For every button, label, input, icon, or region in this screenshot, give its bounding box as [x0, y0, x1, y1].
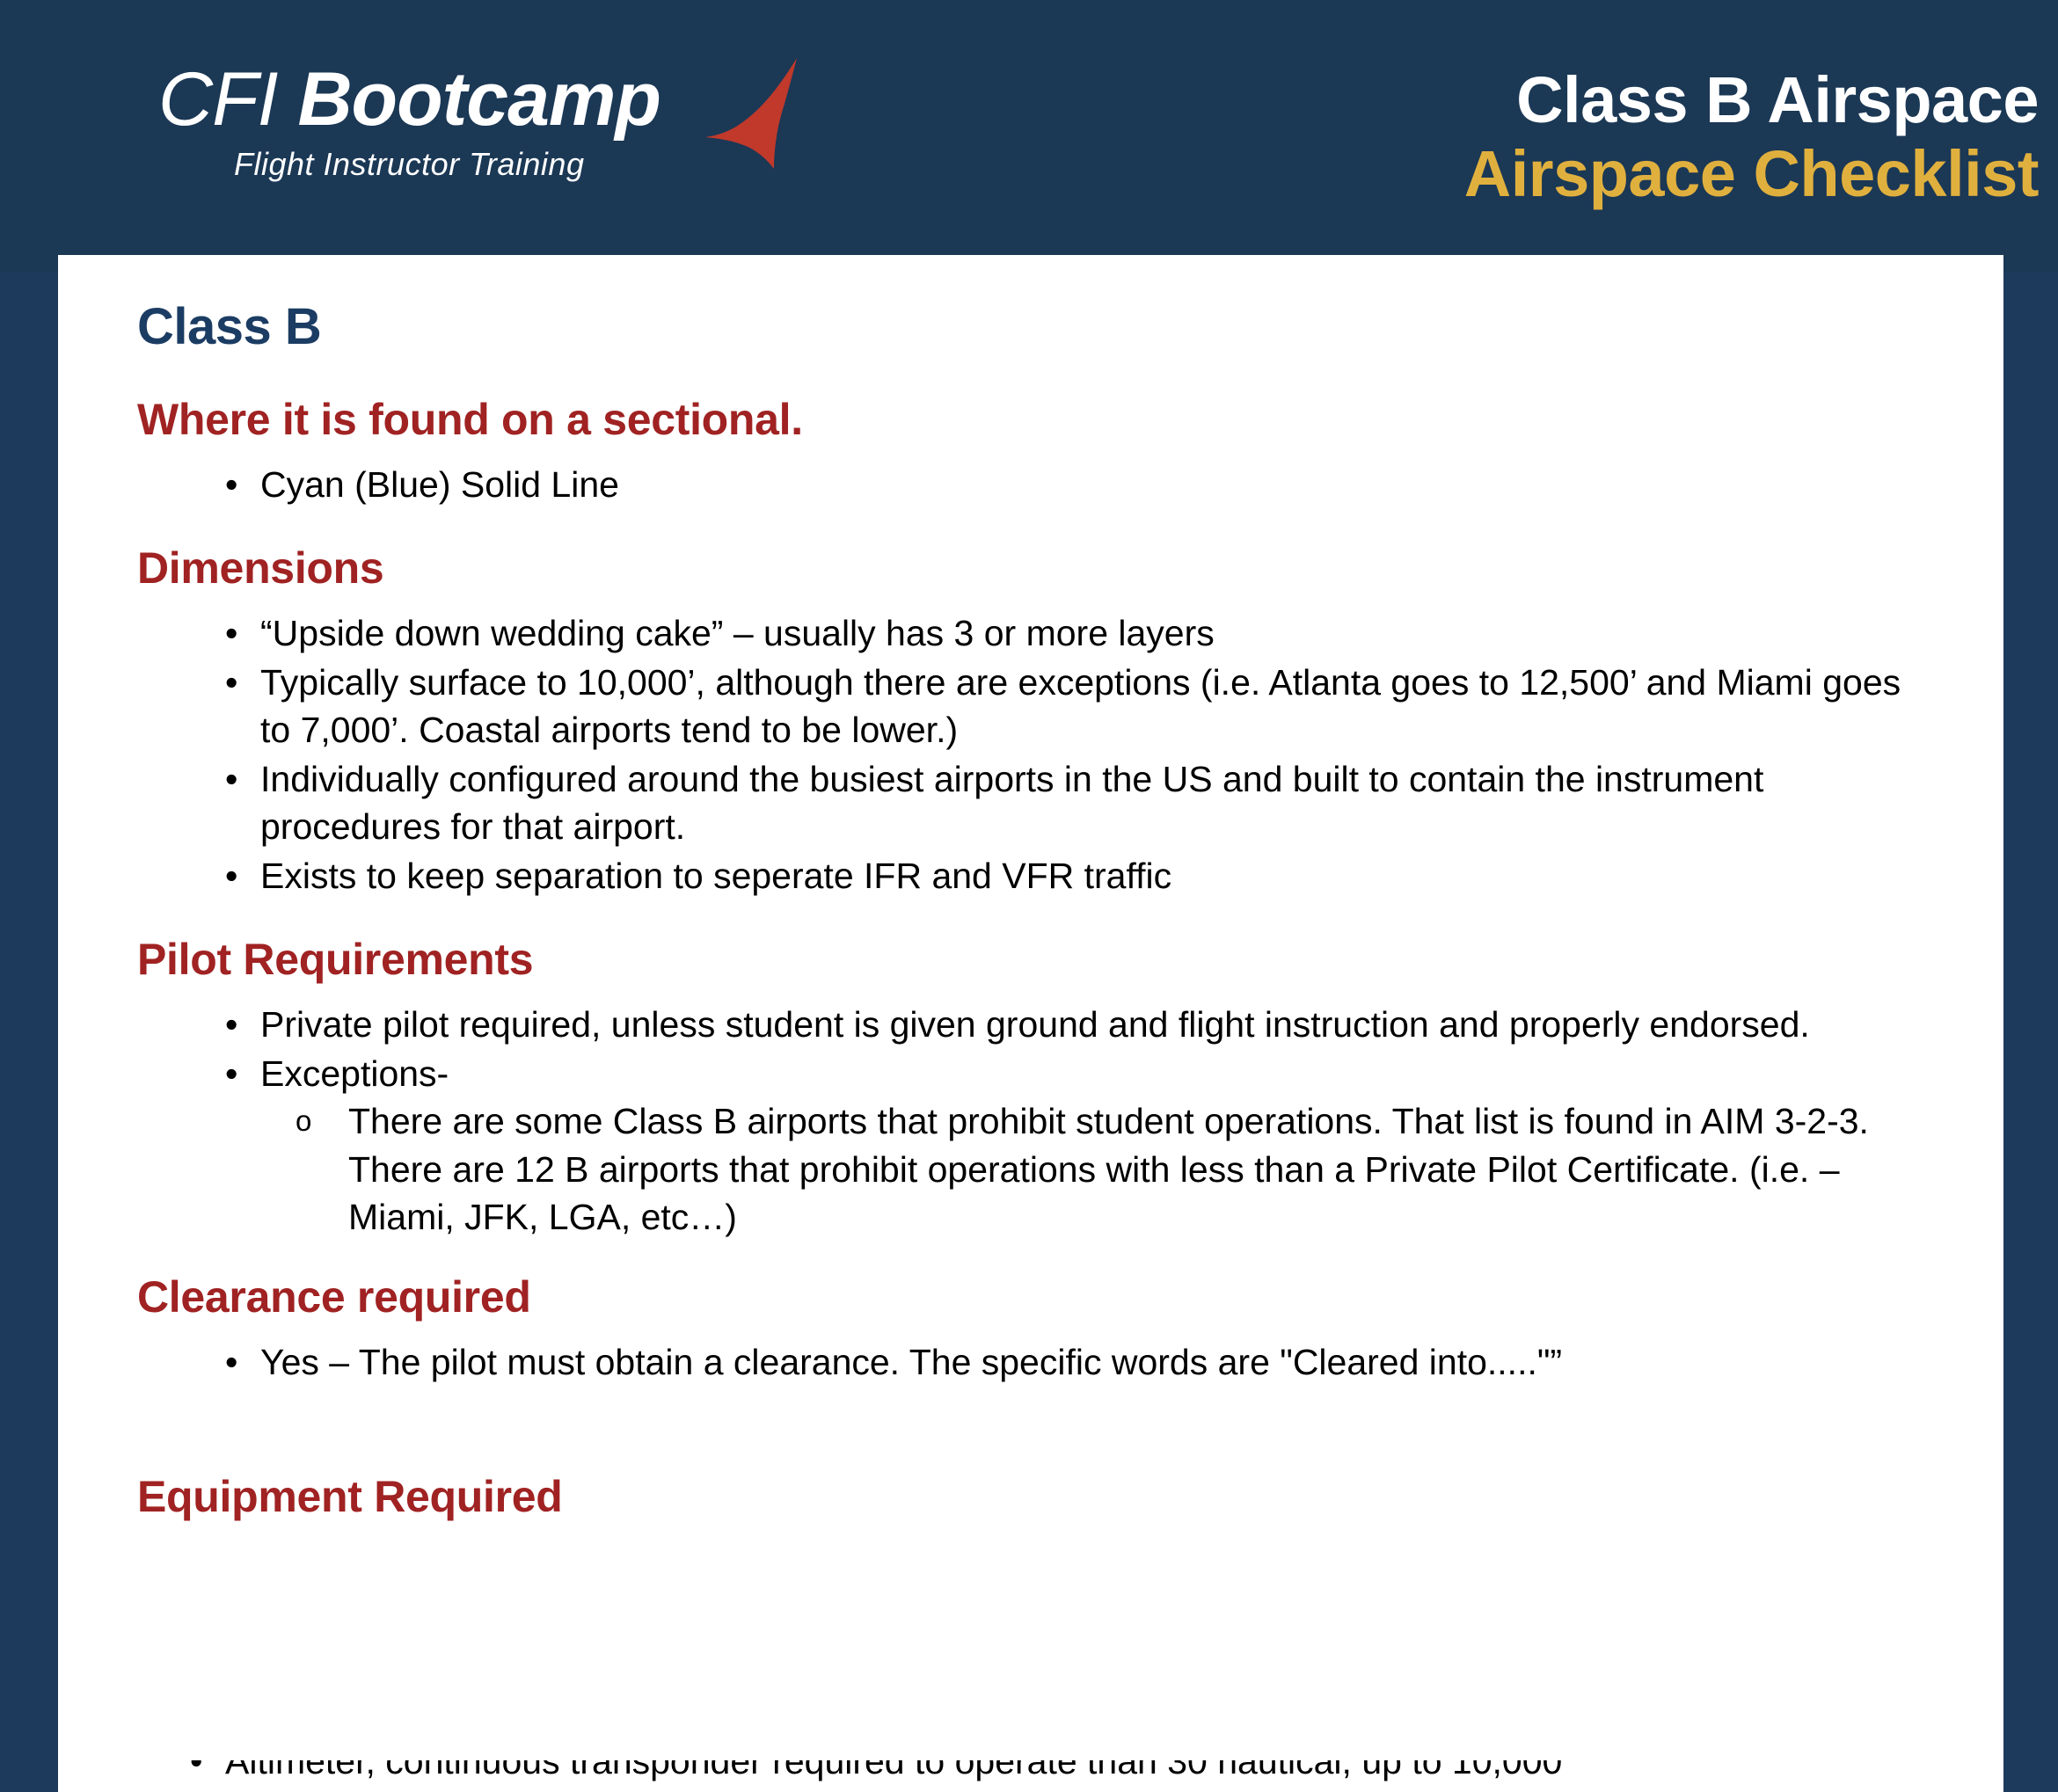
bullet-text: Private pilot required, unless student i… [260, 1004, 1810, 1045]
bullet-list-dimensions: • “Upside down wedding cake” – usually h… [137, 609, 1924, 900]
bullet-text: Cyan (Blue) Solid Line [260, 464, 619, 505]
logo-word-bootcamp: Bootcamp [297, 57, 660, 142]
bullet-disc-icon: • [225, 852, 237, 900]
logo-tagline: Flight Instructor Training [234, 146, 584, 183]
list-item: • Cyan (Blue) Solid Line [137, 461, 1924, 508]
bullet-list-pilot-requirements: • Private pilot required, unless student… [137, 1001, 1924, 1241]
document-content: Class B Where it is found on a sectional… [58, 255, 2003, 1524]
logo-word-cfi: CFI [158, 57, 278, 142]
list-item: • Individually configured around the bus… [137, 755, 1924, 850]
header-title-block: Class B Airspace Airspace Checklist [1071, 65, 2039, 209]
cfi-bootcamp-logo: CFI Bootcamp Flight Instructor Training [158, 42, 774, 200]
page-subtitle: Airspace Checklist [1071, 139, 2039, 209]
list-item: • “Upside down wedding cake” – usually h… [137, 609, 1924, 657]
bullet-text: Exceptions- [260, 1053, 449, 1094]
section-heading-where-found: Where it is found on a sectional. [137, 393, 1924, 447]
sub-bullet-list-exceptions: o There are some Class B airports that p… [260, 1097, 1924, 1240]
bullet-disc-icon: • [225, 755, 237, 803]
red-swoosh-arrow-icon [686, 55, 836, 169]
bullet-text: “Upside down wedding cake” – usually has… [260, 613, 1215, 653]
list-item: o There are some Class B airports that p… [260, 1097, 1924, 1240]
document-sheet: Class B Where it is found on a sectional… [58, 255, 2003, 1792]
bullet-disc-icon: • [225, 461, 237, 508]
list-item: • Yes – The pilot must obtain a clearanc… [137, 1338, 1924, 1386]
section-heading-dimensions: Dimensions [137, 542, 1924, 595]
section-heading-pilot-requirements: Pilot Requirements [137, 933, 1924, 987]
clipped-bottom-row: • Altimeter, continuous transponder requ… [58, 1760, 2003, 1792]
bullet-text: Individually configured around the busie… [260, 759, 1763, 847]
bullet-disc-icon: • [225, 609, 237, 657]
document-header: CFI Bootcamp Flight Instructor Training … [0, 0, 2058, 273]
doc-title: Class B [137, 295, 1924, 360]
bullet-disc-icon: • [225, 1001, 237, 1048]
list-item: • Exists to keep separation to seperate … [137, 852, 1924, 900]
bullet-text: Typically surface to 10,000’, although t… [260, 662, 1901, 750]
list-item: • Typically surface to 10,000’, although… [137, 659, 1924, 754]
bullet-text: There are some Class B airports that pro… [348, 1101, 1869, 1236]
bullet-circle-icon: o [296, 1098, 311, 1145]
bullet-text: Exists to keep separation to seperate IF… [260, 856, 1171, 896]
list-item: • Exceptions- o There are some Class B a… [137, 1050, 1924, 1240]
bullet-disc-icon: • [225, 1338, 237, 1386]
bullet-text: Altimeter, continuous transponder requir… [225, 1760, 1569, 1785]
section-heading-clearance-required: Clearance required [137, 1271, 1924, 1324]
page-title: Class B Airspace [1071, 65, 2039, 135]
section-heading-equipment-required: Equipment Required [137, 1470, 1924, 1524]
document-page: CFI Bootcamp Flight Instructor Training … [0, 0, 2058, 1792]
logo-wordmark: CFI Bootcamp [158, 62, 660, 137]
list-item: • Private pilot required, unless student… [137, 1001, 1924, 1048]
bullet-text: Yes – The pilot must obtain a clearance.… [260, 1342, 1562, 1382]
bullet-list-where-found: • Cyan (Blue) Solid Line [137, 461, 1924, 508]
bullet-disc-icon: • [225, 1050, 237, 1097]
bullet-disc-icon: • [225, 659, 237, 706]
bullet-list-clearance-required: • Yes – The pilot must obtain a clearanc… [137, 1338, 1924, 1386]
bullet-disc-icon: • [190, 1760, 202, 1785]
